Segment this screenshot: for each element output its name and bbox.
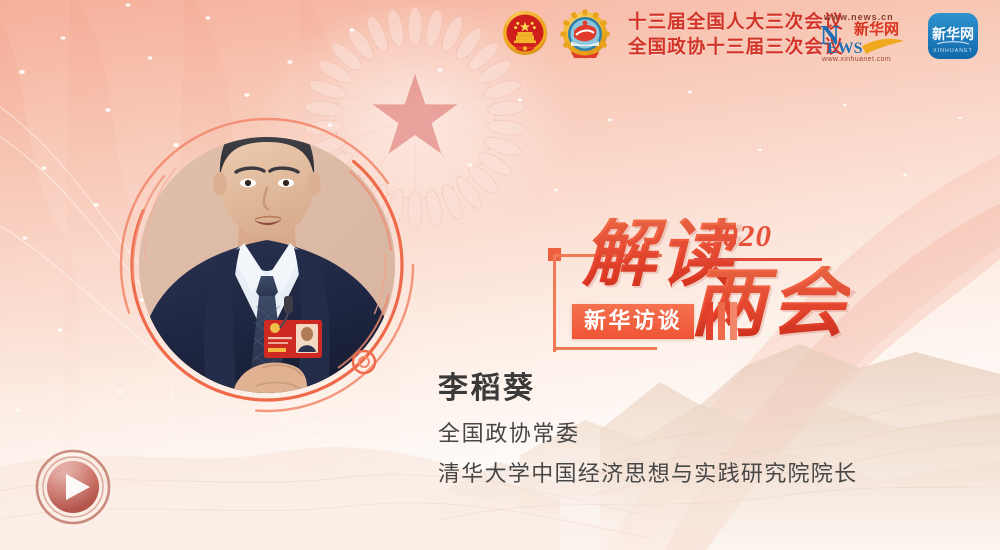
slogan-line-1: 十三届全国人大三次会议	[628, 11, 844, 33]
app-icon-en: XINHUANET	[933, 48, 973, 54]
play-button[interactable]	[34, 448, 112, 526]
title-year: 2020	[706, 220, 772, 251]
guest-info: 李稻葵 全国政协常委 清华大学中国经济思想与实践研究院院长	[438, 371, 958, 487]
bracket-bottom-rule	[553, 347, 657, 350]
cppcc-emblem-icon	[558, 6, 612, 62]
guest-role: 全国政协常委	[438, 420, 958, 448]
tick-mark-2	[718, 302, 725, 340]
tick-mark-3	[730, 302, 737, 340]
national-emblem-prc-icon	[498, 6, 552, 62]
conference-header: 十三届全国人大三次会议 全国政协十三届三次会议	[498, 6, 844, 62]
title-year-rule	[694, 258, 822, 261]
conference-slogan: 十三届全国人大三次会议 全国政协十三届三次会议	[628, 11, 844, 58]
tick-mark-1	[706, 302, 713, 340]
portrait-ring-decoration	[112, 110, 422, 420]
guest-position: 清华大学中国经济思想与实践研究院院长	[438, 460, 958, 488]
slogan-line-2: 全国政协十三届三次会议	[628, 36, 844, 58]
xinhuanet-app-icon[interactable]: 新华网 XINHUANET	[925, 12, 981, 60]
news-logo-bottom-url: www.xinhuanet.com	[821, 56, 891, 62]
xinhua-news-logo[interactable]: www.news.cn N 新华网 EWS www.xinhuanet.com	[818, 10, 914, 62]
guest-name: 李稻葵	[438, 371, 958, 407]
title-tick-marks	[706, 302, 737, 340]
program-title-lockup: 解读 2020 两会 新华访谈	[548, 224, 848, 364]
app-icon-cn: 新华网	[932, 26, 974, 42]
bracket-left-rule	[553, 254, 556, 352]
program-badge: 新华访谈	[572, 304, 694, 339]
poster-stage: 十三届全国人大三次会议 全国政协十三届三次会议 www.news.cn N 新华…	[0, 0, 1000, 550]
ring-dot-decoration	[353, 351, 375, 373]
news-logo-word: EWS	[827, 40, 863, 57]
news-logo-cn: 新华网	[854, 20, 899, 38]
guest-portrait	[112, 110, 422, 420]
